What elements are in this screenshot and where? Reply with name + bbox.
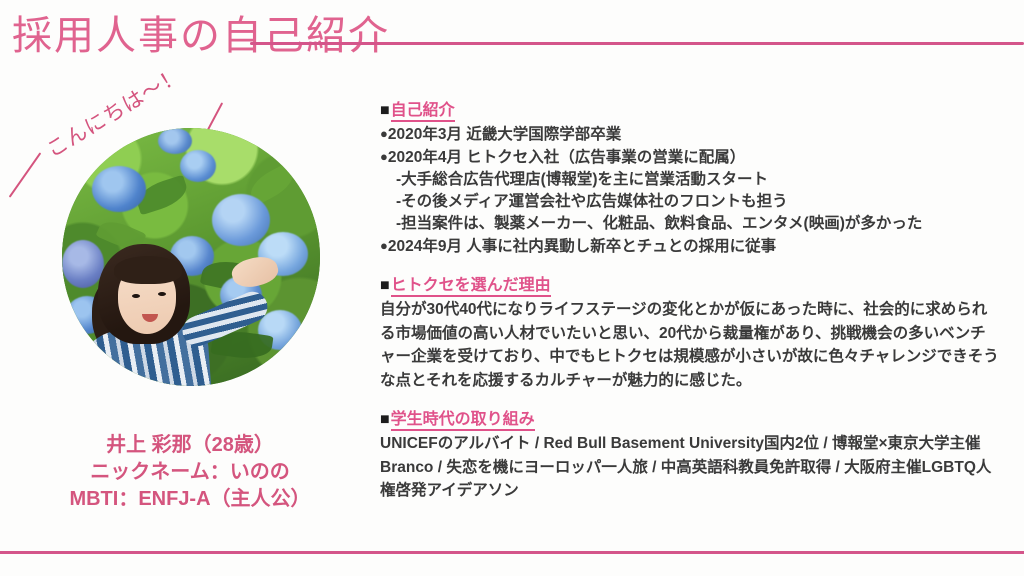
title-divider-rule [250,42,1024,45]
person-bangs [114,256,182,284]
hydrangea-flower [212,194,270,246]
section-paragraph: 自分が30代40代になりライフステージの変化とかが仮にあった時に、社会的に求めら… [380,298,1000,392]
section-heading: ■ヒトクセを選んだ理由 [380,275,1010,297]
bullet-icon: ● [380,126,388,141]
list-item-text: -その後メディア運営会社や広告媒体社のフロントも担う [396,193,788,210]
list-item-text: -大手総合広告代理店(博報堂)を主に営業活動スタート [396,171,768,188]
section-heading-label: 学生時代の取り組み [391,411,535,431]
section-paragraph: UNICEFのアルバイト / Red Bull Basement Univers… [380,432,1000,503]
section-heading-label: ヒトクセを選んだ理由 [391,277,551,297]
list-item-text: 2020年4月 ヒトクセ入社（広告事業の営業に配属） [388,149,745,166]
hydrangea-flower [92,166,146,212]
bullet-icon: ● [380,238,388,253]
profile-nickname: ニックネーム：いのの [20,459,360,486]
section-heading-label: 自己紹介 [391,102,455,122]
slide-title-row: 採用人事の自己紹介 [0,6,1024,68]
list-item: ●2024年9月 人事に社内異動し新卒とチュとの採用に従事 [380,235,1010,258]
profile-mbti: MBTI：ENFJ-A（主人公） [20,486,360,513]
profile-name: 井上 彩那（28歳） [20,432,360,459]
list-item-text: 2024年9月 人事に社内異動し新卒とチュとの採用に従事 [388,238,776,255]
person-eye-right [158,292,166,296]
list-item: -その後メディア運営会社や広告媒体社のフロントも担う [380,191,1010,213]
section-marker-icon: ■ [380,277,390,294]
section-marker-icon: ■ [380,411,390,428]
section-heading: ■学生時代の取り組み [380,409,1010,431]
section-marker-icon: ■ [380,102,390,119]
section-student-activities: ■学生時代の取り組み UNICEFのアルバイト / Red Bull Basem… [380,409,1010,503]
bottom-divider-rule [0,551,1024,554]
content-column: ■自己紹介 ●2020年3月 近畿大学国際学部卒業 ●2020年4月 ヒトクセ入… [380,100,1010,520]
hydrangea-flower [62,240,104,288]
list-item: -大手総合広告代理店(博報堂)を主に営業活動スタート [380,169,1010,191]
person-eye-left [132,294,140,298]
profile-name-block: 井上 彩那（28歳） ニックネーム：いのの MBTI：ENFJ-A（主人公） [20,432,360,513]
slide-root: 採用人事の自己紹介 こんにちは〜！ [0,0,1024,576]
section-reason-for-choosing: ■ヒトクセを選んだ理由 自分が30代40代になりライフステージの変化とかが仮にあ… [380,275,1010,392]
page-title: 採用人事の自己紹介 [12,10,390,62]
slash-left-mark [9,152,42,197]
bullet-icon: ● [380,149,388,164]
hydrangea-flower [180,150,216,182]
profile-photo [62,128,320,386]
list-item: -担当案件は、製薬メーカー、化粧品、飲料食品、エンタメ(映画)が多かった [380,213,1010,235]
list-item-text: 2020年3月 近畿大学国際学部卒業 [388,126,621,143]
list-item-text: -担当案件は、製薬メーカー、化粧品、飲料食品、エンタメ(映画)が多かった [396,215,922,232]
section-self-introduction: ■自己紹介 ●2020年3月 近畿大学国際学部卒業 ●2020年4月 ヒトクセ入… [380,100,1010,258]
list-item: ●2020年3月 近畿大学国際学部卒業 [380,123,1010,146]
list-item: ●2020年4月 ヒトクセ入社（広告事業の営業に配属） [380,146,1010,169]
section-heading: ■自己紹介 [380,100,1010,122]
hydrangea-flower [158,128,192,154]
